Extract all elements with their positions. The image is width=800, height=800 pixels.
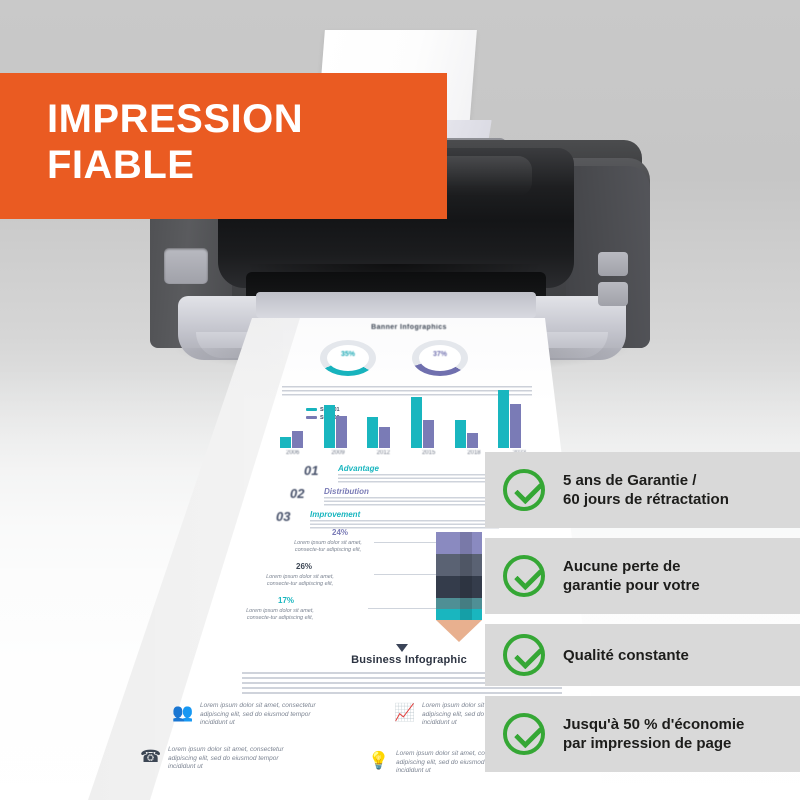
list-body-lines — [324, 497, 494, 506]
feature-panel-3[interactable]: Qualité constante — [485, 624, 800, 686]
x-tick-2006: 2006 — [270, 450, 315, 456]
x-tick-2009: 2009 — [315, 450, 360, 456]
funnel-value-1: 24% — [332, 528, 348, 537]
funnel-segment-1 — [436, 532, 482, 554]
donut-chart-2: 37% — [412, 340, 468, 376]
donut-hole-1 — [327, 345, 369, 371]
bar-step-01-2023 — [498, 390, 509, 448]
bar-step-02-2009 — [336, 416, 347, 448]
funnel-value-3: 17% — [278, 596, 294, 605]
bar-step-01-2018 — [455, 420, 466, 448]
pencil-tip — [436, 620, 482, 642]
list-number: 03 — [276, 509, 290, 524]
bar-step-02-2015 — [423, 420, 434, 448]
icon-feature-text: Lorem ipsum dolor sit amet, consectetur … — [168, 746, 300, 772]
funnel-text-1: Lorem ipsum dolor sit amet, consecte-tur… — [282, 540, 374, 554]
list-number: 01 — [304, 463, 318, 478]
feature-label-4: Jusqu'à 50 % d'économie par impression d… — [563, 715, 744, 753]
icon-feature-text: Lorem ipsum dolor sit amet, consectetur … — [200, 702, 332, 728]
list-title: Distribution — [324, 487, 369, 496]
bar-step-01-2012 — [367, 417, 378, 448]
printer-button-left — [164, 248, 208, 284]
printer-tray-inner — [256, 292, 536, 318]
funnel-leader-1 — [374, 542, 436, 543]
funnel-segment-2 — [436, 554, 482, 576]
bar-chart — [274, 386, 536, 448]
printer-button-right-2 — [598, 282, 628, 306]
feature-label-1: 5 ans de Garantie / 60 jours de rétracta… — [563, 471, 729, 509]
headline-line-1: IMPRESSION — [47, 96, 447, 142]
bar-step-02-2006 — [292, 431, 303, 448]
headline-text: IMPRESSION FIABLE — [47, 96, 447, 188]
list-number: 02 — [290, 486, 304, 501]
funnel-segment-3 — [436, 576, 482, 598]
list-body-lines — [338, 474, 488, 483]
x-tick-2015: 2015 — [406, 450, 451, 456]
feature-panel-2[interactable]: Aucune perte de garantie pour votre — [485, 538, 800, 614]
lightbulb-icon: 💡 — [368, 752, 389, 769]
infographic-title: Banner Infographics — [324, 324, 494, 331]
check-circle-icon — [503, 469, 545, 511]
bar-step-01-2009 — [324, 405, 335, 448]
promo-image: Banner Infographics 35% 37% Step 01 Step… — [0, 0, 800, 800]
funnel-side-shading — [460, 532, 472, 620]
funnel-text-3: Lorem ipsum dolor sit amet, consecte-tur… — [234, 608, 326, 622]
funnel-leader-2 — [374, 574, 436, 575]
bar-step-02-2012 — [379, 427, 390, 448]
bar-step-01-2006 — [280, 437, 291, 448]
check-circle-icon — [503, 713, 545, 755]
funnel-segment-5 — [436, 609, 482, 620]
funnel-text-2: Lorem ipsum dolor sit amet, consecte-tur… — [254, 574, 346, 588]
printer-button-right-1 — [598, 252, 628, 276]
clock-phone-icon: ☎ — [140, 748, 161, 765]
bar-step-02-2018 — [467, 433, 478, 448]
funnel-segment-4 — [436, 598, 482, 609]
headline-line-2: FIABLE — [47, 142, 447, 188]
bar-step-01-2015 — [411, 397, 422, 448]
feature-panel-1[interactable]: 5 ans de Garantie / 60 jours de rétracta… — [485, 452, 800, 528]
people-icon: 👥 — [172, 704, 193, 721]
funnel-leader-3 — [368, 608, 436, 609]
check-circle-icon — [503, 634, 545, 676]
growth-chart-icon: 📈 — [394, 704, 415, 721]
feature-label-2: Aucune perte de garantie pour votre — [563, 557, 700, 595]
check-circle-icon — [503, 555, 545, 597]
feature-label-3: Qualité constante — [563, 646, 689, 665]
donut-value-2: 37% — [412, 351, 468, 358]
list-title: Advantage — [338, 464, 379, 473]
donut-value-1: 35% — [320, 351, 376, 358]
bar-step-02-2023 — [510, 404, 521, 448]
funnel-pencil-chart — [436, 532, 482, 642]
list-title: Improvement — [310, 510, 360, 519]
feature-panel-4[interactable]: Jusqu'à 50 % d'économie par impression d… — [485, 696, 800, 772]
section-arrow-icon — [396, 644, 408, 652]
donut-hole-2 — [419, 345, 461, 371]
donut-chart-1: 35% — [320, 340, 376, 376]
x-tick-2012: 2012 — [361, 450, 406, 456]
funnel-value-2: 26% — [296, 562, 312, 571]
